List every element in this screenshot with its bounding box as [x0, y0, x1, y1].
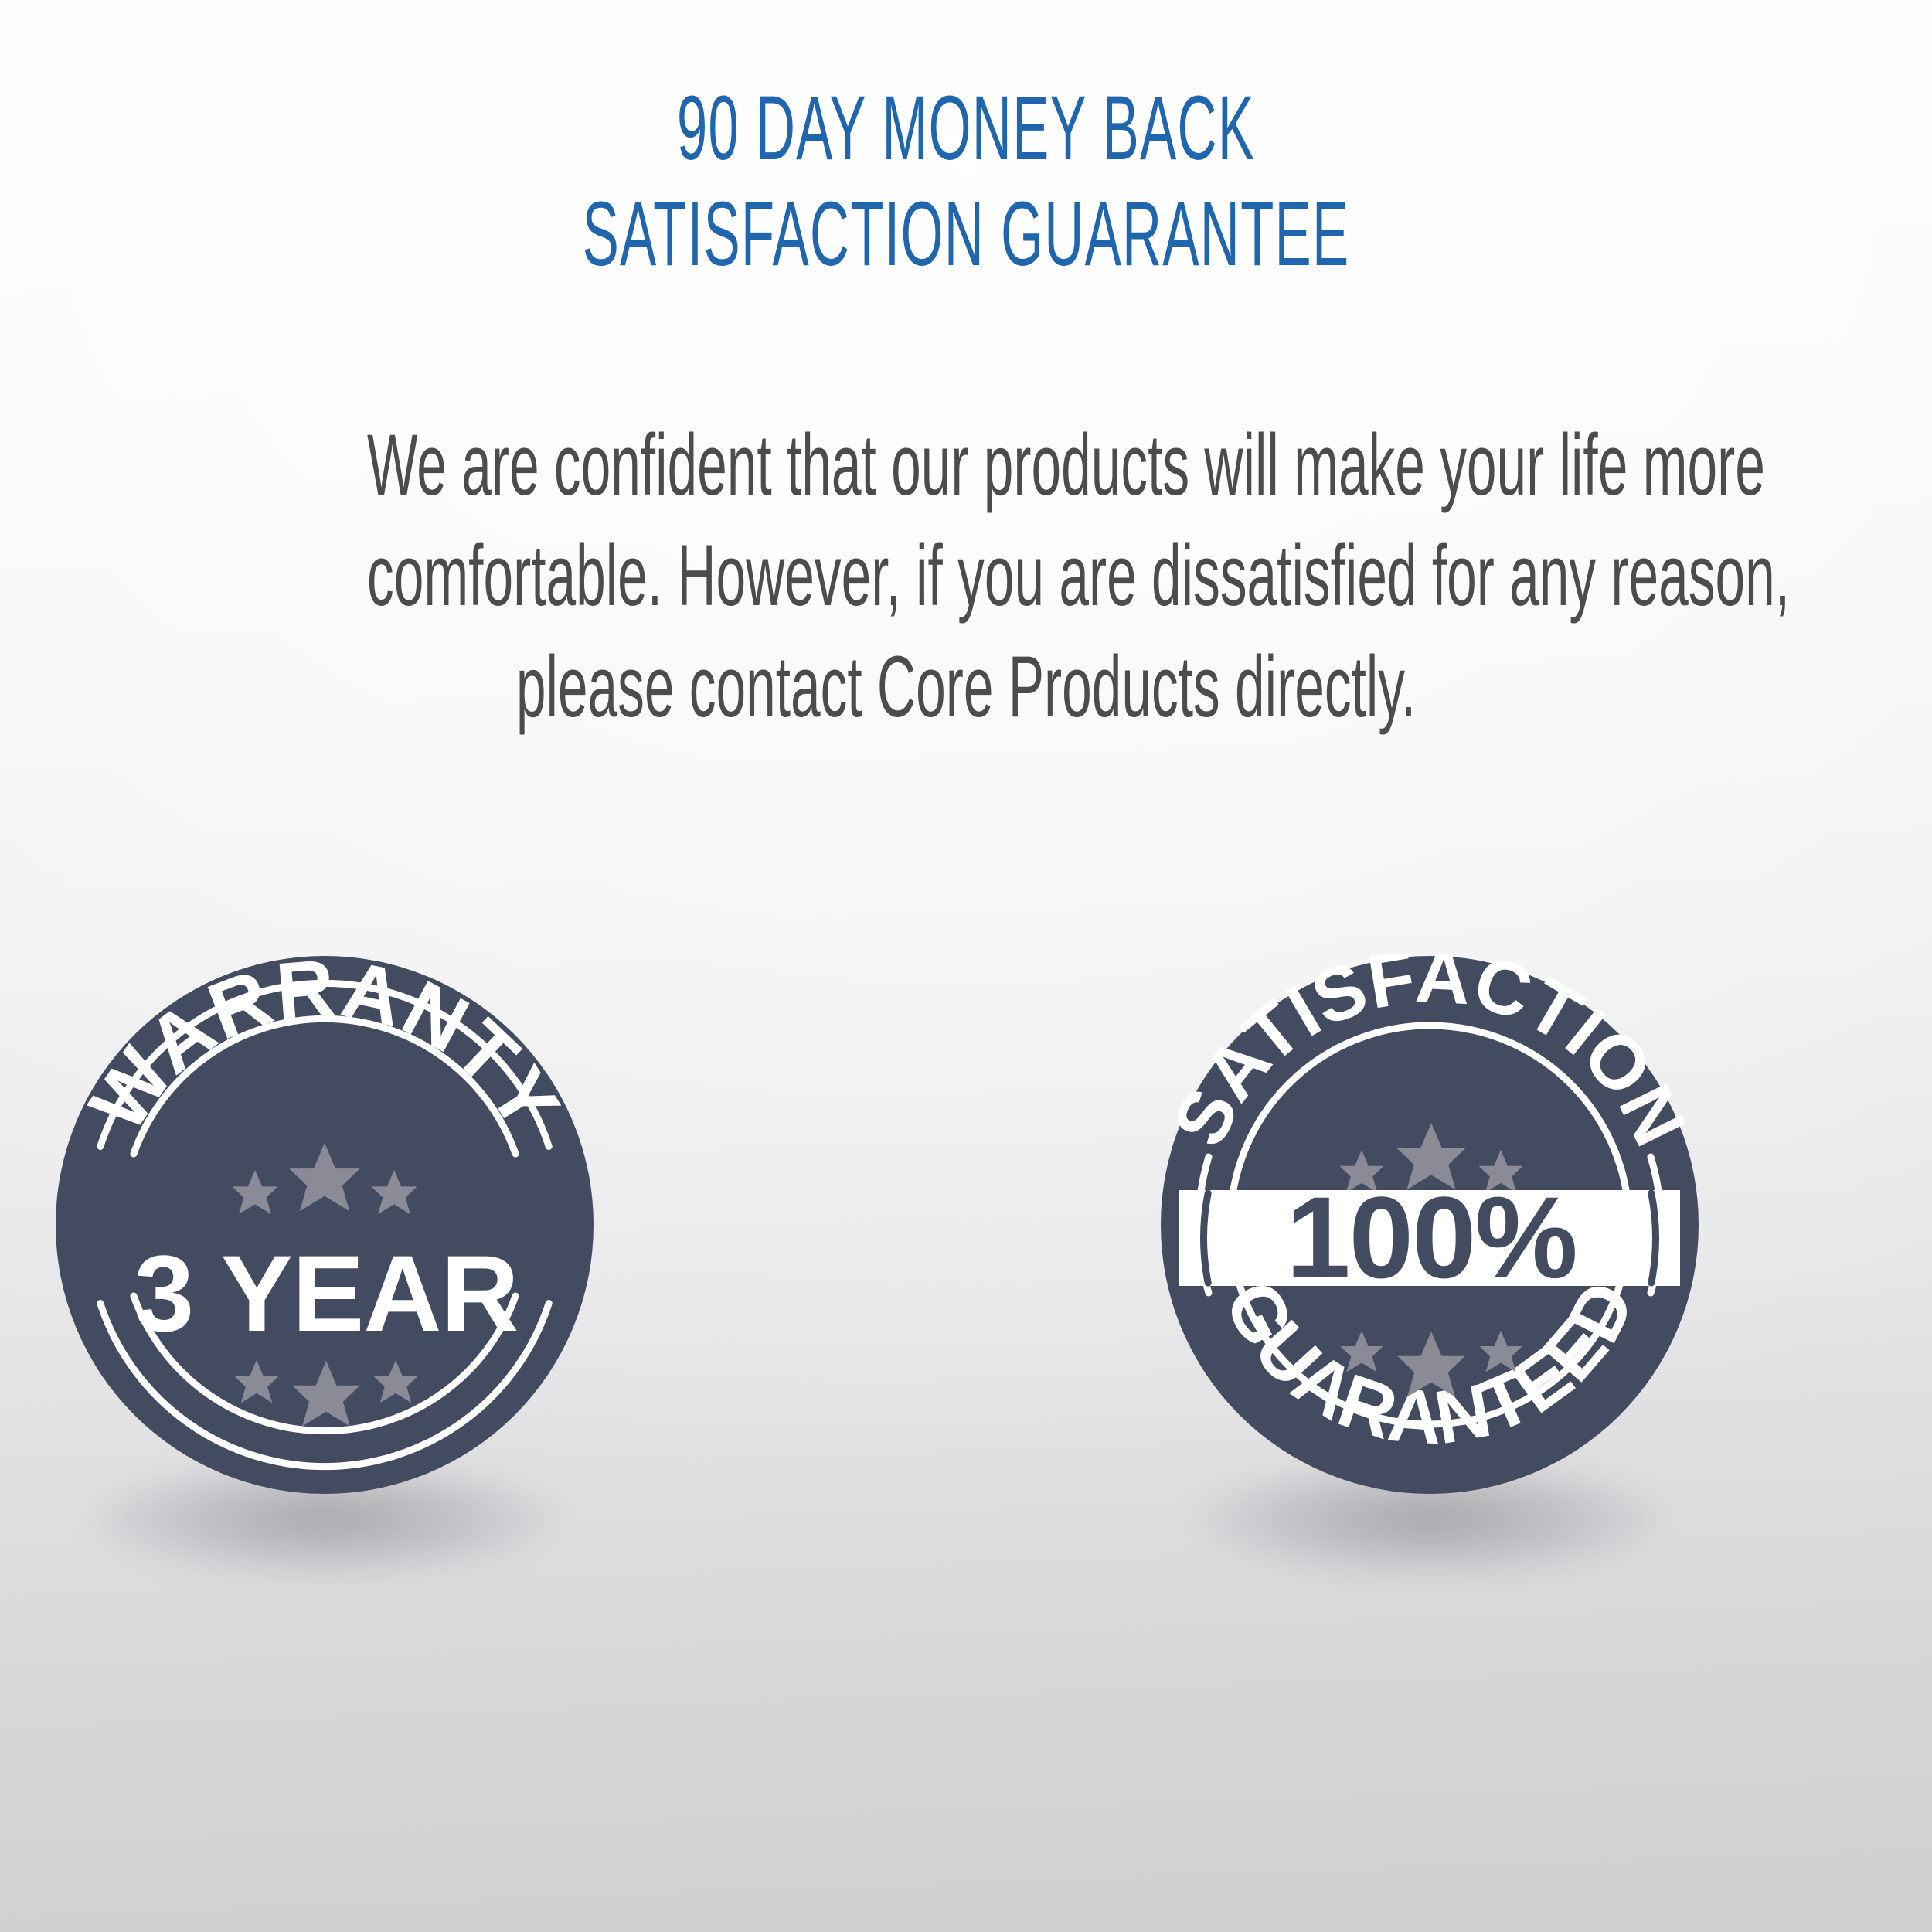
- page-title-line-1: 90 DAY MONEY BACK: [386, 76, 1546, 182]
- intro-line-3: please contact Core Products directly.: [367, 631, 1565, 742]
- badge-row: WARRANTY 3 YEAR 3 YEAR: [0, 819, 1932, 1747]
- satisfaction-badge-graphic: SATISFACTION GUARANTEED: [1159, 954, 1700, 1495]
- intro-line-1: We are confident that our products will …: [367, 410, 1565, 520]
- warranty-badge: WARRANTY 3 YEAR 3 YEAR: [54, 954, 595, 1495]
- guarantee-banner: 90 DAY MONEY BACK SATISFACTION GUARANTEE…: [0, 0, 1932, 1932]
- intro-line-2: comfortable. However, if you are dissati…: [367, 520, 1565, 631]
- satisfaction-band-label: 100%: [1286, 1172, 1577, 1302]
- intro-paragraph: We are confident that our products will …: [0, 410, 1932, 742]
- warranty-badge-graphic: WARRANTY 3 YEAR: [54, 954, 595, 1495]
- satisfaction-badge: SATISFACTION GUARANTEED: [1159, 954, 1700, 1495]
- page-title-line-2: SATISFACTION GUARANTEE: [386, 182, 1546, 287]
- warranty-center-label: 3 YEAR: [134, 1233, 518, 1354]
- page-title: 90 DAY MONEY BACK SATISFACTION GUARANTEE: [0, 76, 1932, 287]
